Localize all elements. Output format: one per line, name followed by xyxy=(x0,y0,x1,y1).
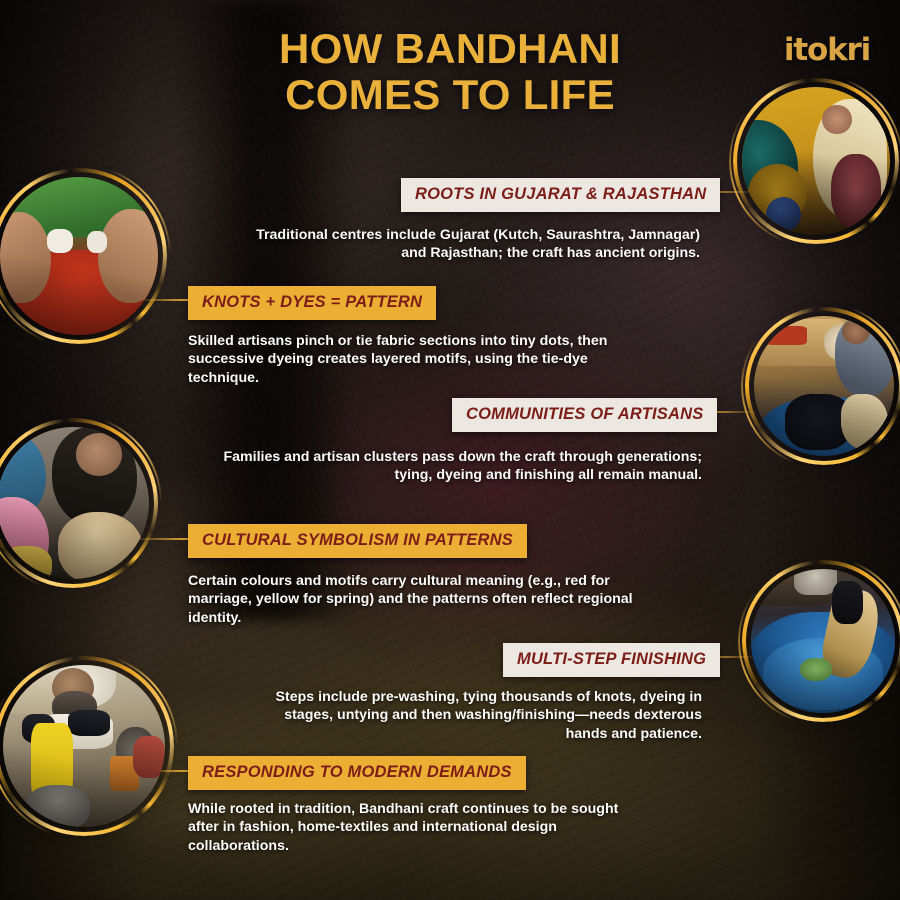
infographic-canvas: HOW BANDHANI COMES TO LIFE itokri xyxy=(0,0,900,900)
photo-indigo-dye-vat-dipping xyxy=(742,560,900,722)
photo-women-tying-bandhani-knots xyxy=(733,78,899,244)
photo-elder-women-tying-fabric xyxy=(0,418,158,588)
section-label-cultural-symbolism: CULTURAL SYMBOLISM IN PATTERNS xyxy=(188,524,527,558)
section-label-modern-demands: RESPONDING TO MODERN DEMANDS xyxy=(188,756,526,790)
section-body-modern-demands: While rooted in tradition, Bandhani craf… xyxy=(188,800,653,855)
section-body-multi-step-finishing: Steps include pre-washing, tying thousan… xyxy=(262,688,702,743)
photo-artisan-lifting-yellow-dyed-cloth xyxy=(0,656,174,836)
section-body-cultural-symbolism: Certain colours and motifs carry cultura… xyxy=(188,572,633,627)
section-body-knots-dyes: Skilled artisans pinch or tie fabric sec… xyxy=(188,332,643,387)
brand-logo[interactable]: itokri xyxy=(784,32,870,68)
page-title-line1: HOW BANDHANI xyxy=(279,25,621,72)
section-body-communities: Families and artisan clusters pass down … xyxy=(200,448,702,485)
section-label-knots-dyes: KNOTS + DYES = PATTERN xyxy=(188,286,436,320)
photo-hands-tying-red-fabric xyxy=(0,168,167,344)
section-label-multi-step-finishing: MULTI-STEP FINISHING xyxy=(503,643,720,677)
photo-dyer-at-blue-dye-vat xyxy=(745,307,900,465)
section-body-roots: Traditional centres include Gujarat (Kut… xyxy=(240,226,700,263)
section-label-communities: COMMUNITIES OF ARTISANS xyxy=(452,398,717,432)
section-label-roots: ROOTS IN GUJARAT & RAJASTHAN xyxy=(401,178,720,212)
